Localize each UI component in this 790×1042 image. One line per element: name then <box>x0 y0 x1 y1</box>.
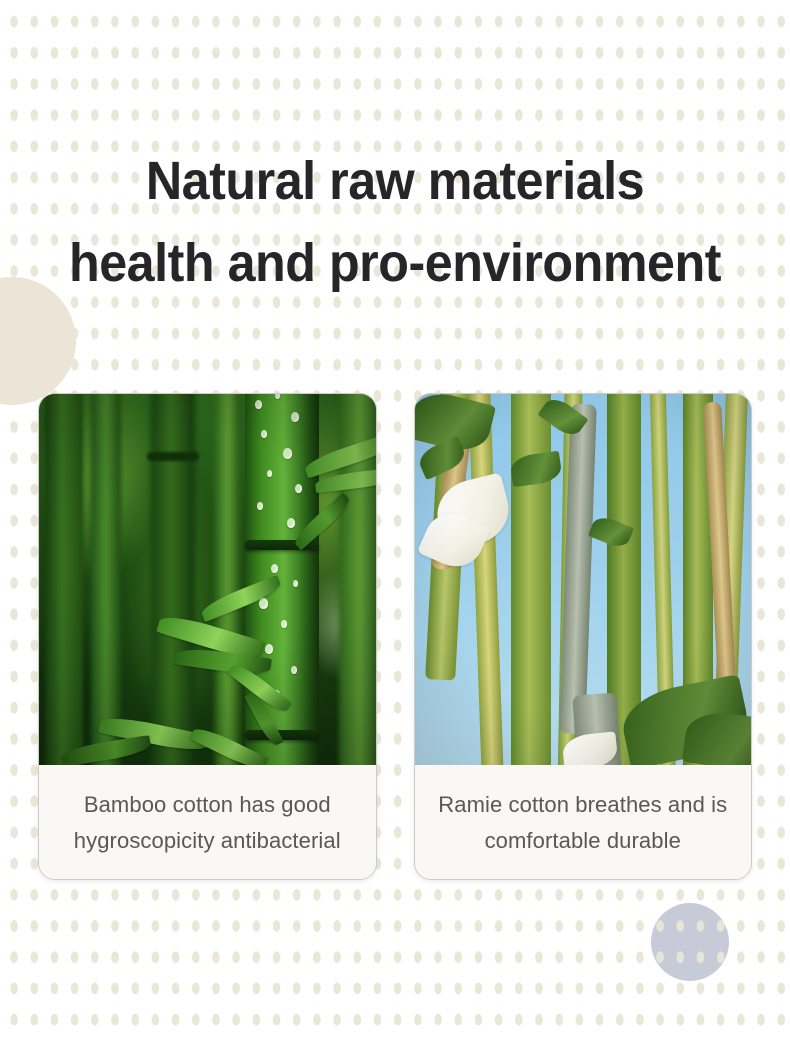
decorative-circle-grey-bottom-right <box>651 903 729 981</box>
ramie-scene <box>415 394 752 765</box>
page-title: Natural raw materials health and pro-env… <box>28 140 763 304</box>
feature-card-list: Bamboo cotton has good hygroscopicity an… <box>38 393 752 880</box>
product-feature-poster: Natural raw materials health and pro-env… <box>0 0 790 1042</box>
photo-vignette <box>39 394 376 765</box>
photo-vignette <box>415 394 752 765</box>
ramie-card-caption: Ramie cotton breathes and is comfortable… <box>415 765 752 879</box>
bamboo-card-caption: Bamboo cotton has good hygroscopicity an… <box>39 765 376 879</box>
ramie-photo <box>415 394 752 765</box>
page-title-line-1: Natural raw materials <box>28 140 763 222</box>
bamboo-photo <box>39 394 376 765</box>
bamboo-scene <box>39 394 376 765</box>
feature-card-bamboo[interactable]: Bamboo cotton has good hygroscopicity an… <box>38 393 377 880</box>
feature-card-ramie[interactable]: Ramie cotton breathes and is comfortable… <box>414 393 753 880</box>
page-title-line-2: health and pro-environment <box>28 222 763 304</box>
